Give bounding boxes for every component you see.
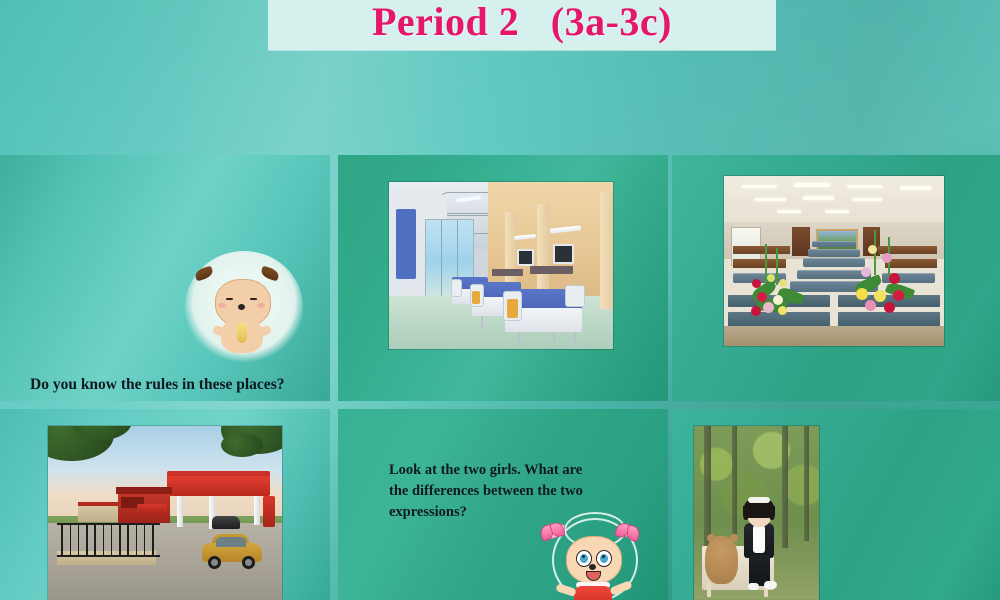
ceiling-light <box>794 183 829 187</box>
dark-car <box>212 516 240 528</box>
fence-bar <box>61 525 63 555</box>
meeting-room-panel: meeting room <box>672 155 1000 401</box>
tree-trunk <box>704 426 711 551</box>
flower-bud <box>856 288 868 300</box>
fence-bar <box>86 525 88 555</box>
title-banner: Period 2 (3a-3c) <box>268 0 776 50</box>
pupil <box>580 554 588 563</box>
girl-shoe <box>748 583 759 590</box>
teddy-bear-icon <box>705 536 738 585</box>
fence-bar <box>70 525 72 555</box>
ceiling-light <box>742 185 777 189</box>
bed-rail <box>451 279 462 297</box>
flower-bud <box>874 290 886 302</box>
side-building-roof <box>78 502 118 506</box>
cartoon-goat-icon <box>185 251 303 363</box>
bed-panel <box>507 299 518 317</box>
fence <box>57 523 160 557</box>
blue-wall-panel <box>396 209 416 279</box>
ceiling <box>724 176 944 227</box>
ceiling-light <box>852 198 883 201</box>
flower-bud <box>779 279 787 287</box>
girl-shoe <box>764 581 777 589</box>
flower-arrangement-left <box>746 244 825 332</box>
girl-hair-side <box>769 506 775 520</box>
headboard-shelf <box>530 266 573 274</box>
bed-leg <box>574 332 576 342</box>
tree-trunk <box>732 426 737 534</box>
goat-cheek-left <box>218 303 226 308</box>
ceiling-light <box>847 185 882 189</box>
flower-arrangement-right <box>847 230 935 332</box>
ceiling-light <box>755 198 786 201</box>
sitting-dialogue-panel: I’m tired. I want to have a sit. Can I s… <box>672 409 1000 600</box>
column <box>600 192 613 309</box>
side-building <box>78 504 118 521</box>
gas-station-panel <box>0 409 330 600</box>
flower-bud <box>767 274 775 282</box>
flower-bud <box>865 300 876 311</box>
flower-bud <box>757 292 767 302</box>
bed-headboard <box>565 285 585 307</box>
flower-bud <box>893 290 904 301</box>
building-roof <box>116 487 172 494</box>
monitor <box>553 244 575 265</box>
flower-bud <box>868 245 877 254</box>
flower-bud <box>751 306 761 316</box>
rules-question-text: Do you know the rules in these places? <box>30 376 284 394</box>
bed-leg <box>553 332 555 344</box>
bench-leg <box>707 583 711 597</box>
hospital-ward-image <box>389 182 613 349</box>
fence-bar <box>144 525 146 555</box>
monitor <box>517 249 534 266</box>
ceiling-light <box>825 210 849 213</box>
canopy-pillar <box>254 496 260 526</box>
window-mullion <box>441 220 442 297</box>
hospital-panel: hospital <box>338 155 668 401</box>
car-window <box>216 537 246 547</box>
station-canopy <box>167 476 270 495</box>
flower-bud <box>882 253 892 263</box>
gas-station-image <box>48 426 282 600</box>
girl-headband <box>748 497 771 502</box>
price-sign <box>263 496 275 527</box>
bed-leg <box>518 332 520 345</box>
fence-bar <box>78 525 80 555</box>
car-wheel <box>208 556 221 569</box>
canopy-pillar <box>177 496 183 527</box>
two-girls-question-panel: Look at the two girls. What are the diff… <box>338 409 668 600</box>
ceiling-light <box>900 186 931 190</box>
meeting-room-image <box>724 176 944 346</box>
flower-bud <box>861 267 871 277</box>
building-sign <box>137 504 167 514</box>
bed-panel <box>472 291 480 304</box>
goat-cheek-right <box>257 303 265 308</box>
car-wheel <box>242 556 255 569</box>
fence-bar <box>119 525 121 555</box>
pupil <box>600 554 608 563</box>
red-dress <box>574 586 612 600</box>
bear-ear <box>707 534 715 542</box>
column <box>537 204 549 301</box>
flower-bud <box>889 273 900 284</box>
fence-bar <box>152 525 154 555</box>
fence-bar <box>136 525 138 555</box>
goat-bottle-icon <box>237 323 247 343</box>
goat-eye-left <box>226 298 233 300</box>
presentation-slide: Period 2 (3a-3c) Do you know the rules i… <box>0 0 1000 600</box>
page-title: Period 2 (3a-3c) <box>372 0 672 45</box>
girl-shirt <box>753 525 766 553</box>
flower-bud <box>884 302 895 313</box>
pink-bow-right-icon <box>615 521 640 540</box>
goat-girl-nose <box>589 564 596 570</box>
hospital-bed <box>505 289 581 332</box>
tree-trunk <box>782 426 788 548</box>
bed-leg <box>481 316 483 328</box>
fence-bar <box>111 525 113 555</box>
girl-hair-side <box>743 506 749 520</box>
girl-on-bench-image <box>694 426 819 600</box>
ceiling-light <box>777 210 801 213</box>
fence-bar <box>127 525 129 555</box>
gold-car <box>202 534 262 568</box>
rules-question-panel: Do you know the rules in these places? <box>0 155 330 401</box>
goat-eye-right <box>250 298 257 300</box>
tree-trunk <box>804 426 809 541</box>
flower-bud <box>778 306 787 315</box>
cartoon-goat-girl-icon <box>534 504 654 600</box>
fence-bar <box>103 525 105 555</box>
headboard-shelf <box>492 269 523 276</box>
fence-bar <box>94 525 96 555</box>
goat-girl-eye-right <box>596 550 612 567</box>
ceiling-light <box>803 196 834 199</box>
flower-stem <box>776 248 778 285</box>
goat-nose <box>238 304 245 310</box>
